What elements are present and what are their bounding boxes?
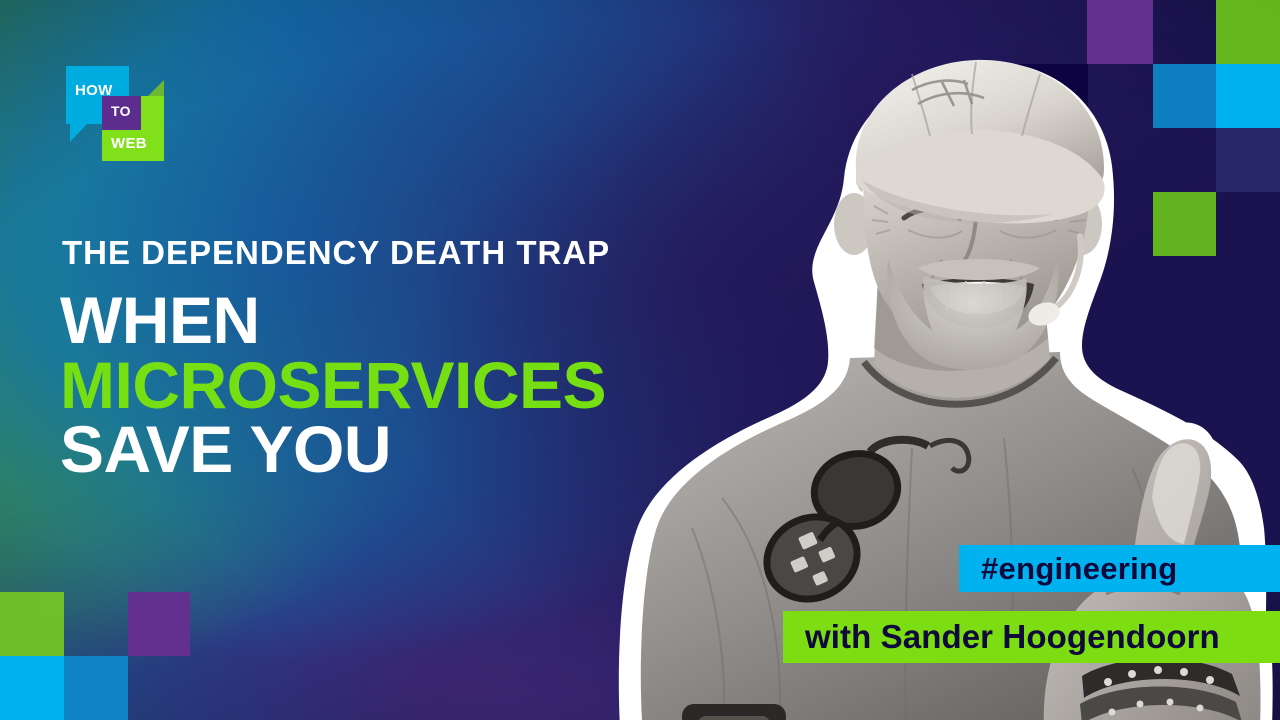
headline-line-2: MICROSERVICES (60, 353, 606, 418)
logo-speech-tail (70, 124, 87, 142)
headline: WHEN MICROSERVICES SAVE YOU (60, 288, 606, 482)
how-to-web-logo[interactable]: HOW TO WEB (66, 66, 166, 164)
logo-word-to: TO (111, 104, 131, 118)
square-green-bl (0, 592, 64, 656)
cap (856, 60, 1105, 223)
speaker-badge[interactable]: with Sander Hoogendoorn (783, 611, 1280, 663)
square-purple-bl (128, 592, 190, 656)
square-cyan-bl (0, 656, 64, 720)
square-cyan-bl2 (64, 656, 128, 720)
kicker-text: THE DEPENDENCY DEATH TRAP (62, 236, 610, 269)
headline-line-3: SAVE YOU (60, 417, 606, 482)
pocket-device (682, 704, 786, 720)
topic-badge[interactable]: #engineering (959, 545, 1280, 592)
headline-line-1: WHEN (60, 288, 606, 353)
logo-word-web: WEB (111, 136, 147, 151)
logo-word-how: HOW (75, 83, 113, 98)
promo-card: HOW TO WEB THE DEPENDENCY DEATH TRAP WHE… (0, 0, 1280, 720)
